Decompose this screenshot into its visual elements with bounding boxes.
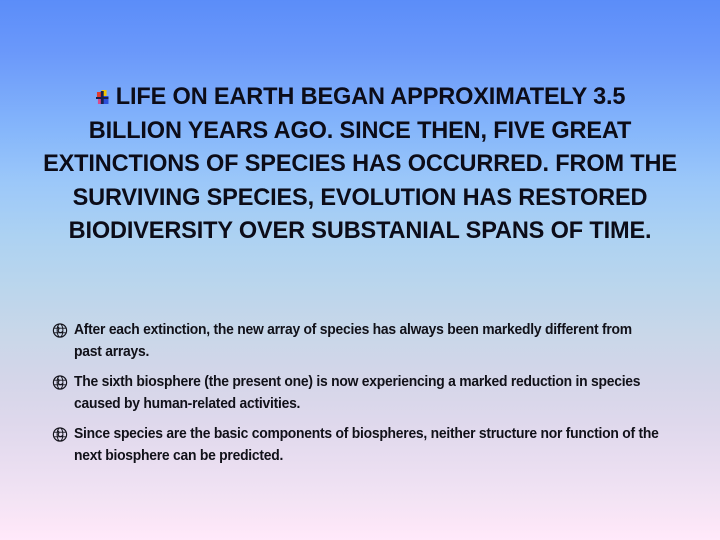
slide-body-list: After each extinction, the new array of … bbox=[52, 320, 680, 476]
presentation-slide: LIFE ON EARTH BEGAN APPROXIMATELY 3.5 BI… bbox=[0, 0, 720, 540]
title-line-2: BILLION YEARS AGO. SINCE THEN, FIVE GREA… bbox=[32, 114, 689, 148]
title-line-1-text: LIFE ON EARTH BEGAN APPROXIMATELY 3.5 bbox=[116, 83, 626, 110]
list-item: The sixth biosphere (the present one) is… bbox=[52, 372, 680, 415]
globe-icon bbox=[52, 321, 70, 340]
slide-title: LIFE ON EARTH BEGAN APPROXIMATELY 3.5 BI… bbox=[18, 80, 702, 248]
list-item-text: The sixth biosphere (the present one) is… bbox=[74, 372, 659, 415]
globe-icon bbox=[52, 373, 70, 392]
list-item: Since species are the basic components o… bbox=[52, 424, 680, 467]
list-item-text: After each extinction, the new array of … bbox=[74, 320, 659, 363]
title-line-1: LIFE ON EARTH BEGAN APPROXIMATELY 3.5 bbox=[32, 80, 689, 114]
list-item-text: Since species are the basic components o… bbox=[74, 424, 659, 467]
title-line-4: SURVIVING SPECIES, EVOLUTION HAS RESTORE… bbox=[32, 181, 689, 215]
pinwheel-bullet-icon bbox=[95, 90, 109, 105]
title-line-3: EXTINCTIONS OF SPECIES HAS OCCURRED. FRO… bbox=[32, 147, 689, 181]
title-line-5: BIODIVERSITY OVER SUBSTANIAL SPANS OF TI… bbox=[32, 214, 689, 248]
list-item: After each extinction, the new array of … bbox=[52, 320, 680, 363]
globe-icon bbox=[52, 425, 70, 444]
